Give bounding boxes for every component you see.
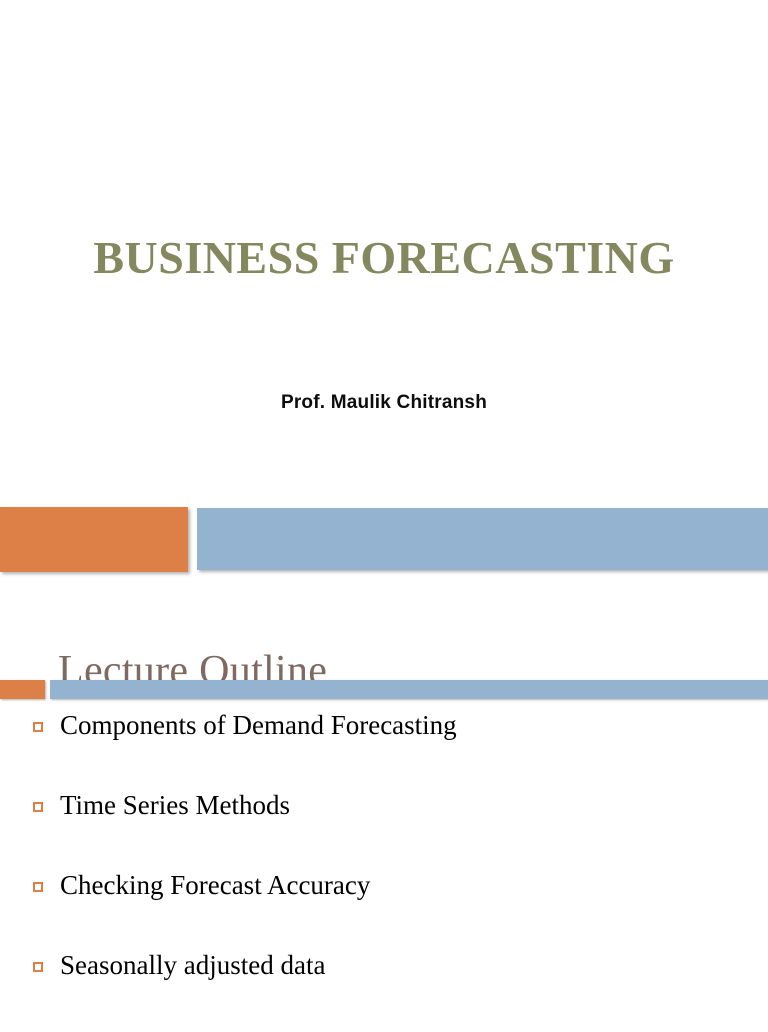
list-item: Seasonally adjusted data — [0, 952, 768, 1032]
list-item: Checking Forecast Accuracy — [0, 872, 768, 952]
outline-slide: Lecture Outline Components of Demand For… — [0, 580, 768, 1024]
outline-divider-block-blue — [50, 680, 768, 699]
hollow-square-bullet-icon — [33, 722, 43, 732]
list-item-label: Seasonally adjusted data — [60, 952, 325, 979]
page-title: BUSINESS FORECASTING — [0, 233, 768, 284]
divider-block-blue — [197, 508, 768, 570]
outline-divider-block-orange — [0, 680, 45, 699]
outline-divider-band — [0, 680, 768, 700]
list-item-label: Components of Demand Forecasting — [60, 712, 457, 739]
title-slide: BUSINESS FORECASTING Prof. Maulik Chitra… — [0, 0, 768, 495]
outline-bullet-list: Components of Demand Forecasting Time Se… — [0, 712, 768, 1032]
list-item: Time Series Methods — [0, 792, 768, 872]
list-item-label: Time Series Methods — [60, 792, 290, 819]
divider-block-orange — [0, 507, 188, 572]
list-item-label: Checking Forecast Accuracy — [60, 872, 370, 899]
hollow-square-bullet-icon — [33, 882, 43, 892]
presenter-name: Prof. Maulik Chitransh — [0, 392, 768, 414]
title-divider-band — [0, 507, 768, 573]
hollow-square-bullet-icon — [33, 802, 43, 812]
list-item: Components of Demand Forecasting — [0, 712, 768, 792]
hollow-square-bullet-icon — [33, 962, 43, 972]
